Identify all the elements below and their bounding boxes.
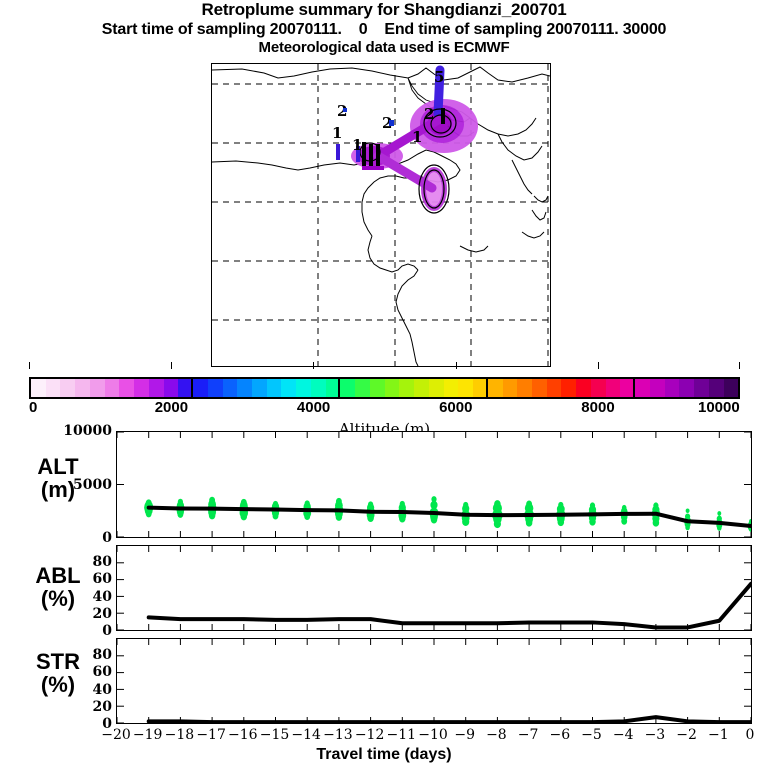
x-tick-label: −16 (225, 727, 261, 743)
series-line (149, 717, 751, 722)
abl-chart (117, 546, 751, 630)
colorbar-tick (313, 362, 314, 369)
colorbar-cell (473, 379, 488, 397)
x-tick-label: −20 (98, 727, 134, 743)
str-timeseries-panel[interactable] (116, 638, 752, 724)
x-tick-label: −5 (574, 727, 610, 743)
colorbar-cell (429, 379, 444, 397)
map-label: 1 (352, 136, 362, 154)
scatter-point (336, 513, 343, 521)
scatter-point (653, 519, 660, 527)
x-tick-label: −17 (193, 727, 229, 743)
colorbar-cell (281, 379, 296, 397)
y-tick-label: 5000 (40, 477, 112, 493)
colorbar-cell (370, 379, 385, 397)
str-chart (117, 639, 751, 723)
colorbar-cell (665, 379, 680, 397)
colorbar-tick (739, 362, 740, 369)
colorbar-cell (635, 379, 650, 397)
scatter-point (304, 513, 310, 520)
colorbar-cell (694, 379, 709, 397)
map-label: 1 (332, 124, 342, 142)
colorbar-cell (193, 379, 208, 397)
colorbar-cell (326, 379, 341, 397)
colorbar-tick-label: 6000 (439, 399, 472, 416)
scatter-point (399, 515, 406, 523)
colorbar-cell (60, 379, 75, 397)
scatter-point (686, 508, 690, 513)
header-block: Retroplume summary for Shangdianzi_20070… (0, 0, 768, 57)
scatter-point (431, 516, 438, 524)
colorbar-tick-label: 0 (29, 399, 37, 416)
colorbar-cell (75, 379, 90, 397)
x-tick-label: −15 (257, 727, 293, 743)
colorbar-cell (237, 379, 252, 397)
x-tick-label: −14 (288, 727, 324, 743)
scatter-point (209, 512, 216, 520)
colorbar-cell (355, 379, 370, 397)
x-tick-label: −19 (130, 727, 166, 743)
map-label: 1 (412, 128, 422, 146)
scatter-point (558, 518, 565, 526)
scatter-point (494, 520, 501, 528)
colorbar-cell (178, 379, 193, 397)
colorbar-cell (46, 379, 61, 397)
x-tick-label: −10 (415, 727, 451, 743)
x-tick-label: −4 (605, 727, 641, 743)
scatter-point (367, 514, 374, 522)
colorbar-cell (311, 379, 326, 397)
y-tick-label: 60 (40, 664, 112, 680)
x-tick-label: −6 (542, 727, 578, 743)
scatter-point (526, 519, 533, 527)
y-tick-label: 10000 (40, 423, 112, 439)
map-label: 2 (424, 105, 434, 123)
colorbar-tick-labels: 0200040006000800010000 (29, 399, 740, 419)
scatter-point (462, 518, 469, 526)
colorbar-cell (517, 379, 532, 397)
colorbar-cell (576, 379, 591, 397)
colorbar-tick (598, 362, 599, 369)
colorbar-tick-label: 4000 (297, 399, 330, 416)
x-tick-label: −11 (383, 727, 419, 743)
colorbar-cell (650, 379, 665, 397)
colorbar-cell (444, 379, 459, 397)
colorbar-cell (105, 379, 120, 397)
y-tick-label: 20 (40, 606, 112, 622)
scatter-point (177, 511, 183, 518)
colorbar-cell (547, 379, 562, 397)
series-line (149, 508, 751, 526)
map-label: 5 (434, 68, 444, 86)
colorbar-tick (456, 362, 457, 369)
scatter-point (273, 513, 279, 520)
colorbar-cell (385, 379, 400, 397)
map-labels: 2 1 2 1 2 1 5 (212, 64, 550, 366)
colorbar-ticks (29, 371, 740, 377)
y-tick-label: 40 (40, 682, 112, 698)
x-tick-label: −3 (637, 727, 673, 743)
colorbar-cell (296, 379, 311, 397)
x-tick-label: −13 (320, 727, 356, 743)
y-tick-label: 80 (40, 554, 112, 570)
colorbar-cell (606, 379, 621, 397)
y-tick-label: 80 (40, 647, 112, 663)
scatter-point (146, 510, 152, 517)
colorbar-cell (267, 379, 282, 397)
colorbar-cell (532, 379, 547, 397)
x-tick-label: 0 (732, 727, 768, 743)
colorbar-cell (119, 379, 134, 397)
colorbar-tick-label: 10000 (698, 399, 740, 416)
colorbar-cell (90, 379, 105, 397)
x-axis-title: Travel time (days) (0, 746, 768, 764)
colorbar-cell (591, 379, 606, 397)
colorbar-cell (709, 379, 724, 397)
scatter-point (621, 518, 627, 525)
scatter-point (241, 513, 248, 521)
colorbar-cell (223, 379, 238, 397)
alt-timeseries-panel[interactable] (116, 431, 752, 538)
colorbar-cell (620, 379, 635, 397)
colorbar-cell (164, 379, 179, 397)
colorbar-tick (171, 362, 172, 369)
y-tick-label: 0 (40, 623, 112, 639)
colorbar-tick-label: 8000 (581, 399, 614, 416)
y-tick-label: 60 (40, 571, 112, 587)
colorbar-cell (724, 379, 739, 397)
x-tick-label: −12 (352, 727, 388, 743)
y-tick-label: 20 (40, 699, 112, 715)
colorbar-cell (31, 379, 46, 397)
colorbar-cell (134, 379, 149, 397)
colorbar-cell (208, 379, 223, 397)
colorbar-cell (679, 379, 694, 397)
colorbar-cell (503, 379, 518, 397)
retroplume-map[interactable]: 2 1 2 1 2 1 5 (211, 63, 551, 367)
colorbar-cell (399, 379, 414, 397)
colorbar-tick-label: 2000 (155, 399, 188, 416)
x-tick-label: −2 (669, 727, 705, 743)
meteorological-data-line: Meteorological data used is ECMWF (0, 39, 768, 57)
scatter-point (589, 518, 596, 526)
x-tick-label: −9 (447, 727, 483, 743)
alt-chart (117, 432, 751, 537)
series-line (149, 584, 751, 628)
colorbar-cell (340, 379, 355, 397)
scatter-point (685, 525, 690, 530)
colorbar-cell (149, 379, 164, 397)
abl-timeseries-panel[interactable] (116, 545, 752, 631)
colorbar-cell (561, 379, 576, 397)
scatter-point (717, 525, 722, 530)
y-tick-label: 40 (40, 589, 112, 605)
scatter-point (717, 511, 721, 516)
page-title: Retroplume summary for Shangdianzi_20070… (0, 0, 768, 20)
colorbar-cell (488, 379, 503, 397)
sampling-time-line: Start time of sampling 20070111. 0 End t… (0, 20, 768, 39)
colorbar-cell (252, 379, 267, 397)
colorbar-cell (458, 379, 473, 397)
x-tick-label: −1 (700, 727, 736, 743)
x-tick-label: −7 (510, 727, 546, 743)
x-tick-label: −8 (478, 727, 514, 743)
x-tick-label: −18 (161, 727, 197, 743)
colorbar-cell (414, 379, 429, 397)
y-tick-label: 0 (40, 530, 112, 546)
colorbar-tick (29, 362, 30, 369)
colorbar-block: 0200040006000800010000 Altitude (m) (29, 371, 740, 438)
altitude-colorbar (29, 377, 740, 399)
